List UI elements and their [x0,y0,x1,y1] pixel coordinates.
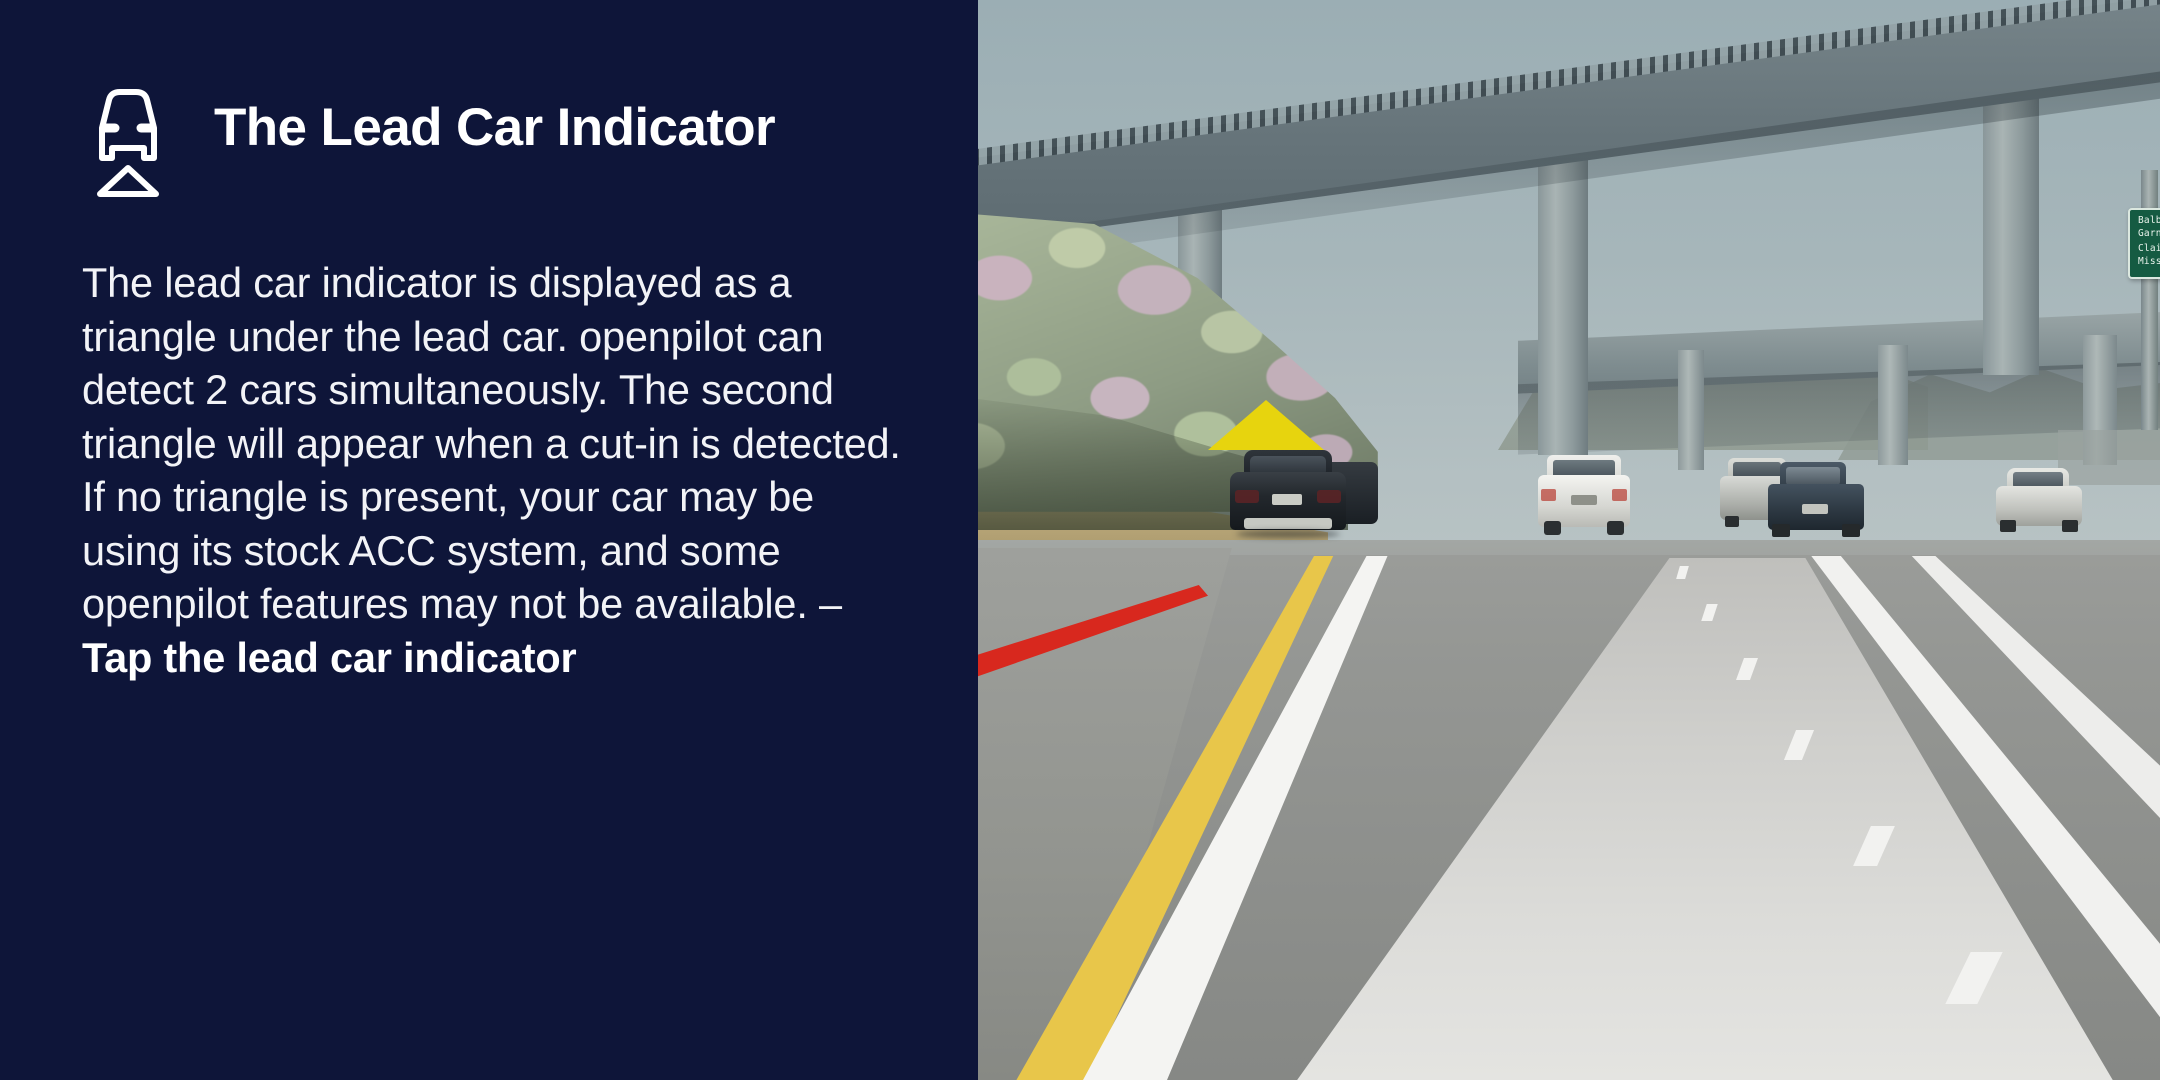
vehicle-white-sedan [1996,468,2082,534]
info-panel: The Lead Car Indicator The lead car indi… [0,0,978,1080]
slide-root: The Lead Car Indicator The lead car indi… [0,0,2160,1080]
lead-vehicle-black-suv [1230,450,1346,536]
vehicle-blue-pickup [1768,462,1864,538]
cta-text[interactable]: Tap the lead car indicator [82,634,576,681]
sign-line-1: Balboa Avenue [2138,215,2160,228]
far-overpass-column-1 [1678,350,1704,470]
highway-dashcam-photo: Balboa Avenue Garnet Avenue 2 Clairemont… [978,0,2160,1080]
body-text: The lead car indicator is displayed as a… [82,259,901,627]
sign-line-4: Mission Bay Dr [2138,256,2160,269]
lead-car-triangle-overlay[interactable] [1208,400,1324,450]
body-description: The lead car indicator is displayed as a… [82,256,918,684]
title-block: The Lead Car Indicator [214,78,775,156]
highway-exit-sign: Balboa Avenue Garnet Avenue 2 Clairemont… [2128,208,2160,279]
page-title: The Lead Car Indicator [214,100,775,156]
vehicle-white-suv [1538,455,1630,535]
panel-header: The Lead Car Indicator [82,78,918,200]
sign-line-2: Garnet Avenue [2138,228,2160,241]
far-overpass-column-2 [1878,345,1908,465]
sign-line-3: Clairemont Drive [2138,243,2160,256]
lead-car-indicator-icon [82,82,174,200]
